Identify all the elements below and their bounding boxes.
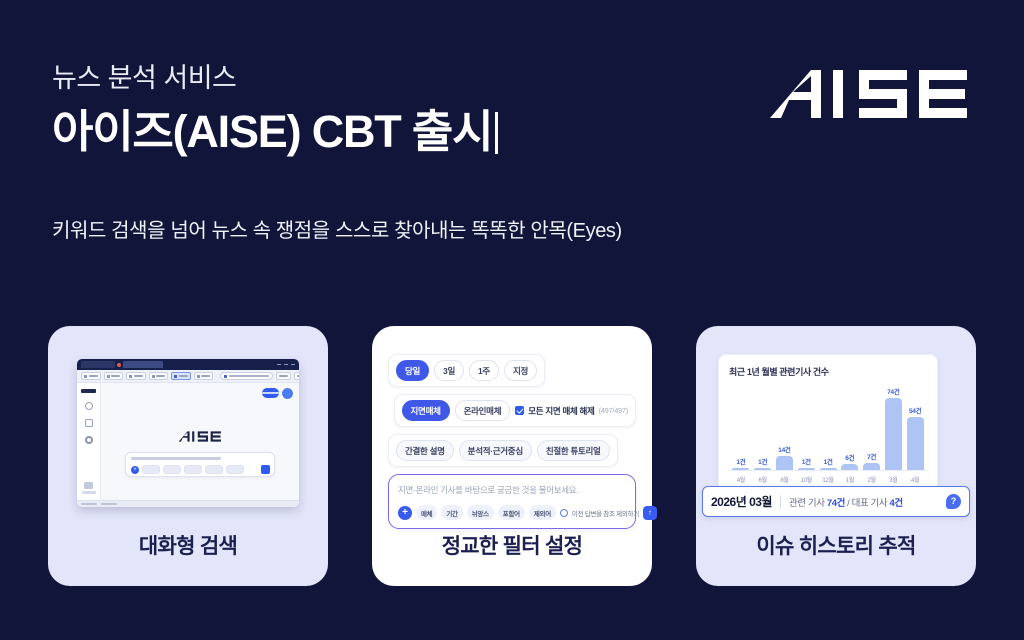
filter-row-media: 지면매체 온라인매체 모든 지면 매체 해제 (497/497): [388, 394, 636, 427]
media-chip-online[interactable]: 온라인매체: [455, 400, 511, 421]
period-chip-3days[interactable]: 3일: [434, 360, 464, 381]
card-issue-history[interactable]: 최근 1년 월별 관련기사 건수 1건1건14건1건1건6건7건74건54건 4…: [696, 326, 976, 586]
stats-prefix: 관련 기사: [789, 498, 827, 509]
card-caption: 대화형 검색: [48, 530, 328, 560]
axis-tick-label: 12월: [818, 475, 838, 484]
history-icon[interactable]: [85, 419, 93, 427]
browser-tab[interactable]: [81, 361, 115, 368]
ask-input-placeholder: 지면·온라인 기사를 바탕으로 궁금한 것을 물어보세요.: [398, 484, 626, 496]
stats-related-count: 74건: [827, 498, 845, 509]
send-button[interactable]: [261, 465, 270, 474]
avatar[interactable]: [281, 387, 294, 400]
bar-column[interactable]: 1건: [796, 384, 816, 470]
toolbar-button-extra-1[interactable]: [276, 372, 291, 380]
selected-month: 2026년 03월: [711, 493, 772, 510]
bar: [776, 456, 793, 470]
tone-filter-group: 간결한 설명 분석적·근거중심 친절한 튜토리얼: [388, 434, 618, 467]
toolbar-button-analysis[interactable]: [126, 372, 146, 380]
media-filter-group: 지면매체 온라인매체 모든 지면 매체 해제 (497/497): [394, 394, 636, 427]
app-main: +: [101, 383, 299, 500]
tone-chip-tutorial[interactable]: 친절한 튜토리얼: [537, 440, 610, 461]
stats-middle: / 대표 기사: [845, 498, 890, 509]
card-caption: 이슈 히스토리 추적: [696, 530, 976, 560]
browser-mockup: +: [77, 359, 299, 507]
bar-column[interactable]: 1건: [753, 384, 773, 470]
axis-tick-label: 10월: [796, 475, 816, 484]
bar-column[interactable]: 1건: [731, 384, 751, 470]
chat-input[interactable]: +: [125, 452, 275, 477]
toolbar-right-group[interactable]: [276, 372, 299, 380]
search-icon[interactable]: [85, 402, 93, 410]
bar-value-label: 1건: [758, 456, 767, 466]
browser-statusbar: [77, 500, 299, 507]
bar-column[interactable]: 6건: [840, 384, 860, 470]
radio-icon[interactable]: [560, 509, 568, 517]
ask-input-right-group: 이전 답변을 참조 제외하기 ↑: [560, 506, 657, 520]
media-deselect-label: 모든 지면 매체 해제: [528, 405, 594, 417]
toolbar-button-news[interactable]: [81, 372, 101, 380]
ask-chip-include[interactable]: 포함어: [498, 505, 525, 520]
ask-chip-nuance[interactable]: 뉘앙스: [467, 505, 494, 520]
app-sidebar: [77, 383, 101, 500]
ask-chip-exclude[interactable]: 제외어: [529, 505, 556, 520]
send-button[interactable]: ↑: [643, 506, 657, 520]
browser-tab-active[interactable]: [123, 361, 163, 368]
bar-column[interactable]: 14건: [775, 384, 795, 470]
add-filter-button[interactable]: +: [131, 466, 139, 474]
chart-title: 최근 1년 월별 관련기사 건수: [729, 365, 927, 378]
bar-column[interactable]: 74건: [883, 384, 903, 470]
period-chip-custom[interactable]: 지정: [504, 360, 537, 381]
help-badge-icon[interactable]: [946, 494, 961, 509]
media-deselect-all-row[interactable]: 모든 지면 매체 해제 (497/497): [515, 405, 628, 417]
gear-icon[interactable]: [85, 436, 93, 444]
card-precise-filters[interactable]: 당일 3일 1주 지정 지면매체 온라인매체 모든 지면 매체 해제 (497/…: [372, 326, 652, 586]
chat-chip-period[interactable]: [163, 465, 181, 474]
toolbar-button-mydata[interactable]: [194, 372, 214, 380]
bar: [885, 398, 902, 470]
sidebar-footer-label: [82, 491, 96, 494]
chart-x-axis: 4월6월8월10월12월1월2월3월4월: [729, 470, 927, 484]
address-bar[interactable]: [220, 372, 273, 380]
ask-chip-media[interactable]: 매체: [416, 505, 437, 520]
axis-tick-label: 3월: [883, 475, 903, 484]
daily-briefing-pill[interactable]: [262, 388, 294, 398]
add-filter-button[interactable]: +: [398, 506, 412, 520]
article-stats: 관련 기사 74건 / 대표 기사 4건: [789, 495, 903, 509]
axis-tick-label: 4월: [731, 475, 751, 484]
bar-value-label: 7건: [867, 451, 876, 461]
feature-cards: + 대화형 검색: [48, 326, 976, 586]
chat-chip-exclude[interactable]: [226, 465, 244, 474]
tone-chip-concise[interactable]: 간결한 설명: [396, 440, 454, 461]
chat-chip-include[interactable]: [205, 465, 223, 474]
browser-body: +: [77, 383, 299, 500]
briefing-label: [262, 388, 279, 398]
media-chip-print[interactable]: 지면매체: [402, 400, 450, 421]
bar-value-label: 1건: [802, 456, 811, 466]
sidebar-footer[interactable]: [77, 482, 100, 494]
axis-tick-label: 8월: [775, 475, 795, 484]
bar-value-label: 14건: [778, 444, 790, 454]
aise-logo: [767, 68, 972, 120]
bar-column[interactable]: 7건: [862, 384, 882, 470]
bar-value-label: 6건: [845, 452, 854, 462]
filter-panel: 당일 3일 1주 지정 지면매체 온라인매체 모든 지면 매체 해제 (497/…: [388, 354, 636, 529]
toolbar-button-stats[interactable]: [171, 372, 191, 380]
bar: [841, 464, 858, 470]
chart-footer-summary[interactable]: 2026년 03월 관련 기사 74건 / 대표 기사 4건: [702, 486, 970, 517]
bar: [820, 468, 837, 470]
ask-input-toolbar: + 매체 기간 뉘앙스 포함어 제외어 이전 답변을 참조 제외하기 ↑: [398, 505, 626, 520]
period-chip-today[interactable]: 당일: [396, 360, 429, 381]
chat-input-toolbar: +: [131, 465, 270, 474]
axis-tick-label: 6월: [753, 475, 773, 484]
period-chip-1week[interactable]: 1주: [469, 360, 499, 381]
chart-bars: 1건1건14건1건1건6건7건74건54건: [729, 384, 927, 470]
hero-subtitle: 키워드 검색을 넘어 뉴스 속 쟁점을 스스로 찾아내는 똑똑한 안목(Eyes…: [52, 214, 972, 243]
bar: [798, 468, 815, 470]
toolbar-button-history[interactable]: [149, 372, 169, 380]
axis-tick-label: 2월: [862, 475, 882, 484]
toolbar-button-extra-2[interactable]: [294, 372, 299, 380]
toolbar-button-search[interactable]: [104, 372, 124, 380]
aise-wordmark-icon: [178, 430, 222, 443]
stats-representative-count: 4건: [889, 498, 902, 509]
axis-tick-label: 1월: [840, 475, 860, 484]
ask-radio-label: 이전 답변을 참조 제외하기: [572, 508, 639, 518]
tone-chip-analytic[interactable]: 분석적·근거중심: [459, 440, 532, 461]
divider: [780, 495, 781, 509]
browser-toolbar: [77, 370, 299, 383]
bar: [907, 417, 924, 470]
filter-row-tone: 간결한 설명 분석적·근거중심 친절한 튜토리얼: [388, 434, 636, 467]
browser-titlebar: [77, 359, 299, 370]
checkbox-icon[interactable]: [515, 406, 524, 415]
record-dot-icon: [117, 363, 121, 367]
sidebar-logo: [81, 389, 96, 393]
bar-column[interactable]: 1건: [818, 384, 838, 470]
page-title-text: 아이즈(AISE) CBT 출시: [52, 106, 492, 157]
window-controls[interactable]: [277, 364, 295, 365]
bar-value-label: 74건: [887, 386, 899, 396]
axis-tick-label: 4월: [905, 475, 925, 484]
period-filter-group: 당일 3일 1주 지정: [388, 354, 545, 387]
chart-panel: 최근 1년 월별 관련기사 건수 1건1건14건1건1건6건7건74건54건 4…: [718, 354, 938, 491]
bar-value-label: 1건: [736, 456, 745, 466]
bar-value-label: 54건: [909, 405, 921, 415]
chat-chip-media[interactable]: [142, 465, 160, 474]
filter-row-period: 당일 3일 1주 지정: [388, 354, 636, 387]
bar: [732, 468, 749, 470]
bar-column[interactable]: 54건: [905, 384, 925, 470]
chat-input-placeholder: [131, 457, 221, 460]
sidebar-footer-icon: [84, 482, 93, 489]
app-hero: +: [101, 430, 299, 477]
media-deselect-count: (497/497): [599, 406, 628, 415]
chat-chip-nuance[interactable]: [184, 465, 202, 474]
card-caption: 정교한 필터 설정: [372, 530, 652, 560]
bar: [754, 468, 771, 470]
text-caret: [495, 112, 498, 154]
bar: [863, 463, 880, 470]
bar-value-label: 1건: [824, 456, 833, 466]
ask-chip-period[interactable]: 기간: [441, 505, 462, 520]
ask-input-box[interactable]: 지면·온라인 기사를 바탕으로 궁금한 것을 물어보세요. + 매체 기간 뉘앙…: [388, 474, 636, 529]
card-conversational-search[interactable]: + 대화형 검색: [48, 326, 328, 586]
